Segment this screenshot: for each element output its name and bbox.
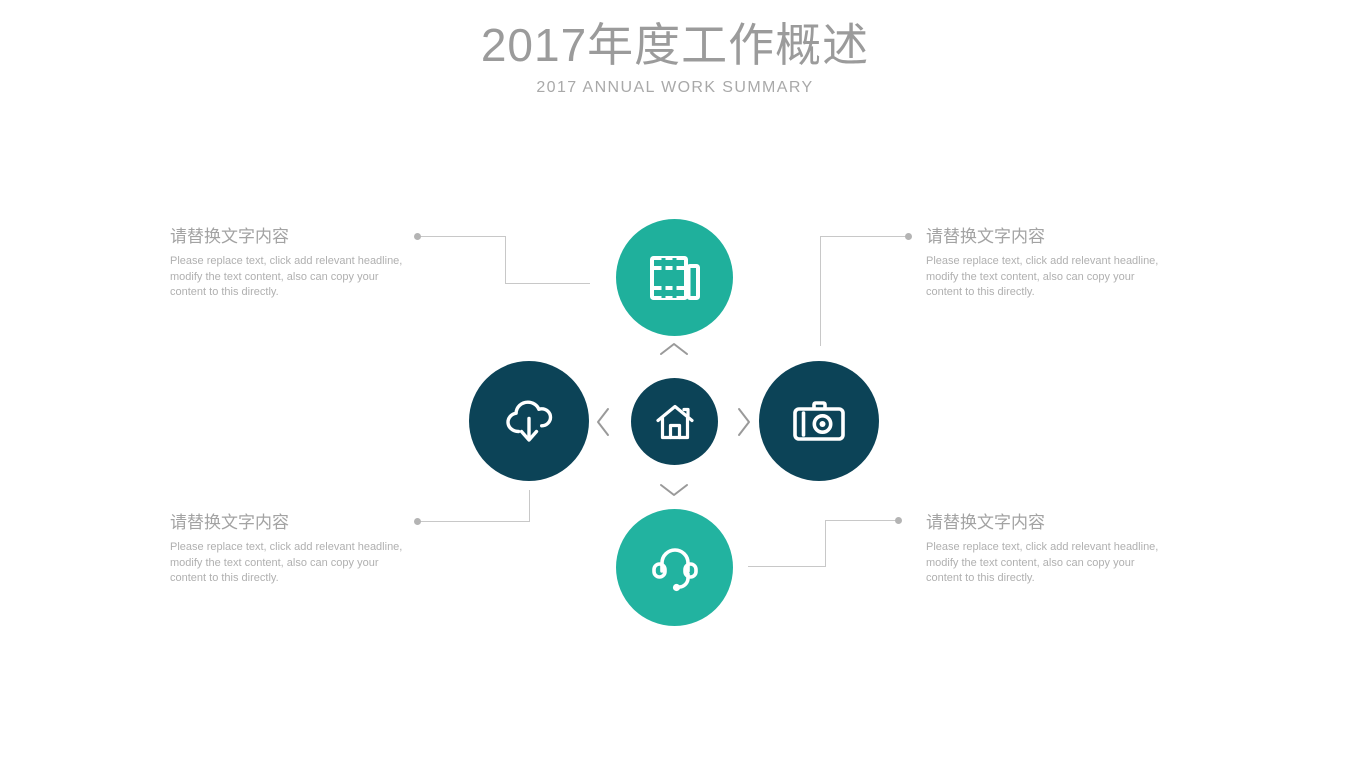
text-block-top-right: 请替换文字内容 Please replace text, click add r… [926,226,1166,301]
connector-bottom-right-segment-2 [825,520,826,566]
text-block-heading: 请替换文字内容 [926,512,1166,534]
text-block-bottom-left: 请替换文字内容 Please replace text, click add r… [170,512,410,587]
connector-bottom-left-segment-1 [420,521,530,522]
text-block-heading: 请替换文字内容 [926,226,1166,248]
connector-bottom-right-segment-1 [825,520,898,521]
node-circle-bottom[interactable] [616,509,733,626]
connector-bottom-left-endpoint-dot [414,518,421,525]
slide-header: 2017年度工作概述 2017 ANNUAL WORK SUMMARY [0,16,1350,99]
node-circle-center[interactable] [631,378,718,465]
text-block-body: Please replace text, click add relevant … [926,540,1166,587]
connector-bottom-right-segment-3 [748,566,826,567]
connector-bottom-left-segment-2 [529,490,530,522]
connector-top-left-segment-2 [505,236,506,283]
connector-top-left-segment-3 [505,283,590,284]
connector-top-right-segment-2 [820,236,821,346]
home-icon [655,403,695,441]
text-block-body: Please replace text, click add relevant … [170,254,410,301]
page-title: 2017年度工作概述 [0,16,1350,74]
node-circle-left[interactable] [469,361,589,481]
headset-icon [650,541,700,595]
slide-canvas: 2017年度工作概述 2017 ANNUAL WORK SUMMARY [0,0,1350,759]
chevron-up-icon[interactable] [659,341,689,357]
node-circle-right[interactable] [759,361,879,481]
chevron-right-icon[interactable] [736,407,752,437]
connector-top-left-endpoint-dot [414,233,421,240]
cloud-download-icon [502,396,556,446]
text-block-bottom-right: 请替换文字内容 Please replace text, click add r… [926,512,1166,587]
text-block-top-left: 请替换文字内容 Please replace text, click add r… [170,226,410,301]
connector-top-right-endpoint-dot [905,233,912,240]
connector-bottom-right-endpoint-dot [895,517,902,524]
node-circle-top[interactable] [616,219,733,336]
page-subtitle: 2017 ANNUAL WORK SUMMARY [0,77,1350,99]
text-block-body: Please replace text, click add relevant … [926,254,1166,301]
chevron-left-icon[interactable] [595,407,611,437]
camera-icon [792,399,846,443]
connector-top-right-segment-1 [820,236,907,237]
chevron-down-icon[interactable] [659,482,689,498]
connector-top-left-segment-1 [419,236,505,237]
text-block-heading: 请替换文字内容 [170,512,410,534]
text-block-body: Please replace text, click add relevant … [170,540,410,587]
text-block-heading: 请替换文字内容 [170,226,410,248]
film-strip-icon [650,256,700,300]
